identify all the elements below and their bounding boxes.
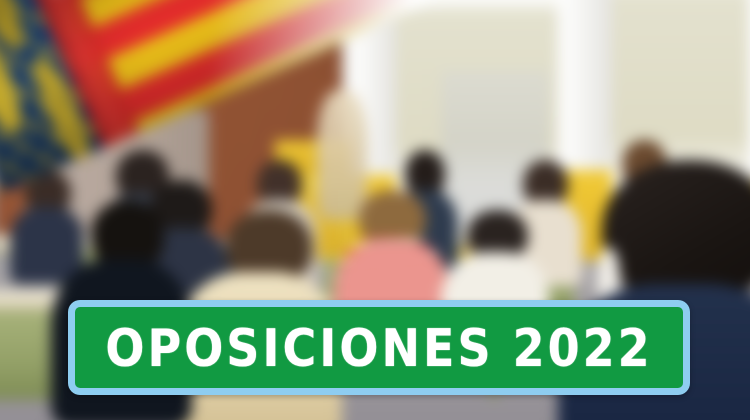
oposiciones-banner: OPOSICIONES 2022 xyxy=(68,300,690,395)
student-head xyxy=(602,160,750,303)
screenshot-canvas: OPOSICIONES 2022 xyxy=(0,0,750,420)
oposiciones-banner-inner: OPOSICIONES 2022 xyxy=(75,307,683,388)
oposiciones-banner-text: OPOSICIONES 2022 xyxy=(105,322,652,374)
